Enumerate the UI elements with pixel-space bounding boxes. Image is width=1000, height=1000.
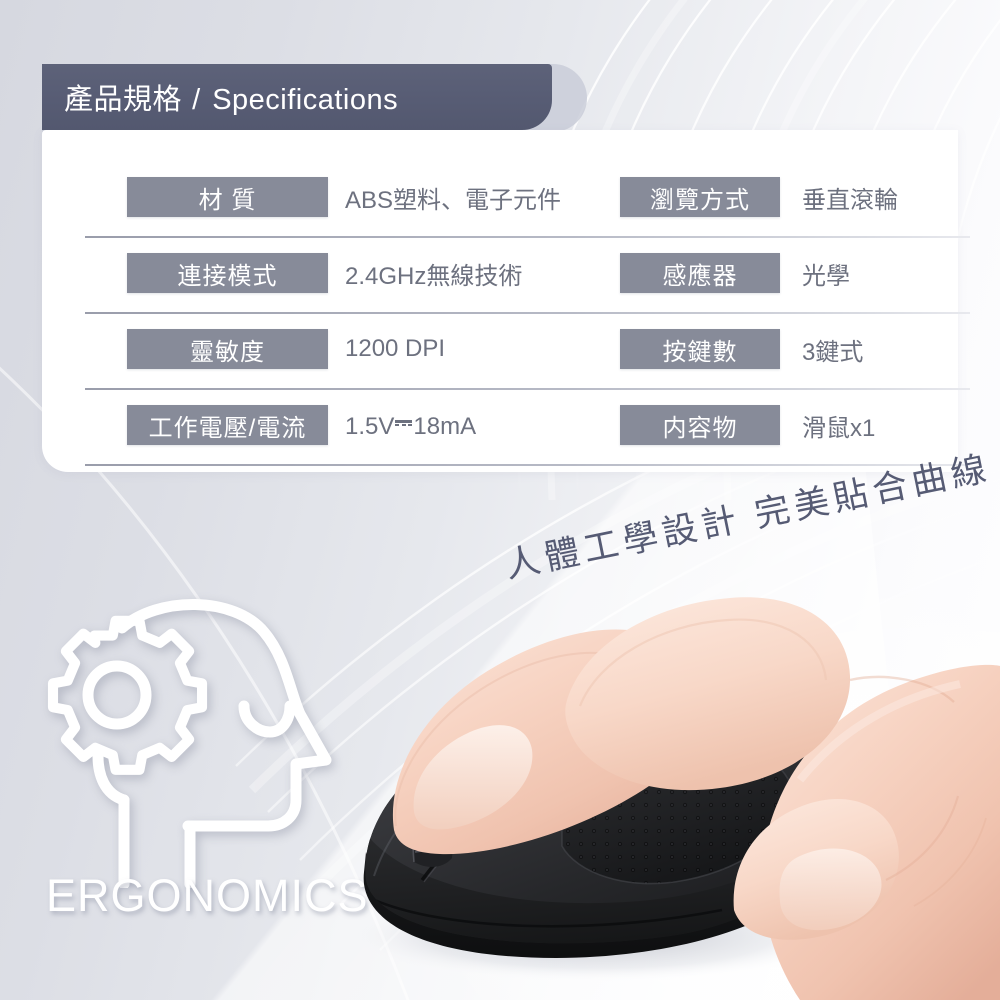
ergonomics-badge: ERGONOMICS (38, 588, 368, 948)
spec-cell-left: 材 質 ABS塑料、電子元件 (127, 174, 561, 220)
ergonomics-label: ERGONOMICS (46, 870, 366, 922)
specifications-banner: 產品規格 / Specifications (42, 64, 552, 130)
table-row: 工作電壓/電流 1.5V18mA 内容物 滑鼠x1 (85, 402, 970, 478)
spec-value: 垂直滾輪 (780, 180, 898, 215)
spec-label: 工作電壓/電流 (127, 405, 328, 445)
spec-value: 2.4GHz無線技術 (328, 256, 522, 291)
table-row: 連接模式 2.4GHz無線技術 感應器 光學 (85, 250, 970, 326)
spec-label: 按鍵數 (620, 329, 780, 369)
voltage-prefix: 1.5V (345, 413, 394, 440)
spec-value: 光學 (780, 256, 850, 291)
page-title-separator: / (182, 84, 212, 116)
page-title-en: Specifications (212, 84, 398, 116)
dc-current-icon (394, 410, 413, 434)
voltage-suffix: 18mA (413, 413, 476, 440)
spec-value: 滑鼠x1 (780, 408, 875, 443)
spec-value: 1200 DPI (328, 335, 445, 363)
spec-label: 連接模式 (127, 253, 328, 293)
product-spec-page: 材 質 ABS塑料、電子元件 瀏覽方式 垂直滾輪 連接模式 2.4GHz無線技術… (0, 0, 1000, 1000)
spec-cell-left: 工作電壓/電流 1.5V18mA (127, 402, 476, 448)
spec-cell-right: 瀏覽方式 垂直滾輪 (620, 174, 898, 220)
row-divider (85, 464, 970, 466)
head-gear-ergonomics-icon (38, 588, 368, 888)
spec-label: 内容物 (620, 405, 780, 445)
product-photo-hand-with-mouse (330, 580, 1000, 1000)
spec-label: 靈敏度 (127, 329, 328, 369)
spec-label: 感應器 (620, 253, 780, 293)
specifications-card: 材 質 ABS塑料、電子元件 瀏覽方式 垂直滾輪 連接模式 2.4GHz無線技術… (42, 130, 958, 472)
spec-value-voltage: 1.5V18mA (328, 410, 476, 441)
page-title-zh: 產品規格 (64, 84, 182, 116)
row-divider (85, 236, 970, 238)
table-row: 材 質 ABS塑料、電子元件 瀏覽方式 垂直滾輪 (85, 174, 970, 250)
spec-value: 3鍵式 (780, 332, 863, 367)
specifications-table: 材 質 ABS塑料、電子元件 瀏覽方式 垂直滾輪 連接模式 2.4GHz無線技術… (85, 174, 970, 478)
spec-cell-right: 按鍵數 3鍵式 (620, 326, 863, 372)
spec-value: ABS塑料、電子元件 (328, 180, 561, 215)
spec-cell-right: 内容物 滑鼠x1 (620, 402, 875, 448)
spec-label: 材 質 (127, 177, 328, 217)
spec-cell-left: 靈敏度 1200 DPI (127, 326, 445, 372)
page-title: 產品規格 / Specifications (42, 76, 398, 118)
spec-cell-right: 感應器 光學 (620, 250, 850, 296)
row-divider (85, 312, 970, 314)
table-row: 靈敏度 1200 DPI 按鍵數 3鍵式 (85, 326, 970, 402)
spec-label: 瀏覽方式 (620, 177, 780, 217)
spec-cell-left: 連接模式 2.4GHz無線技術 (127, 250, 522, 296)
row-divider (85, 388, 970, 390)
